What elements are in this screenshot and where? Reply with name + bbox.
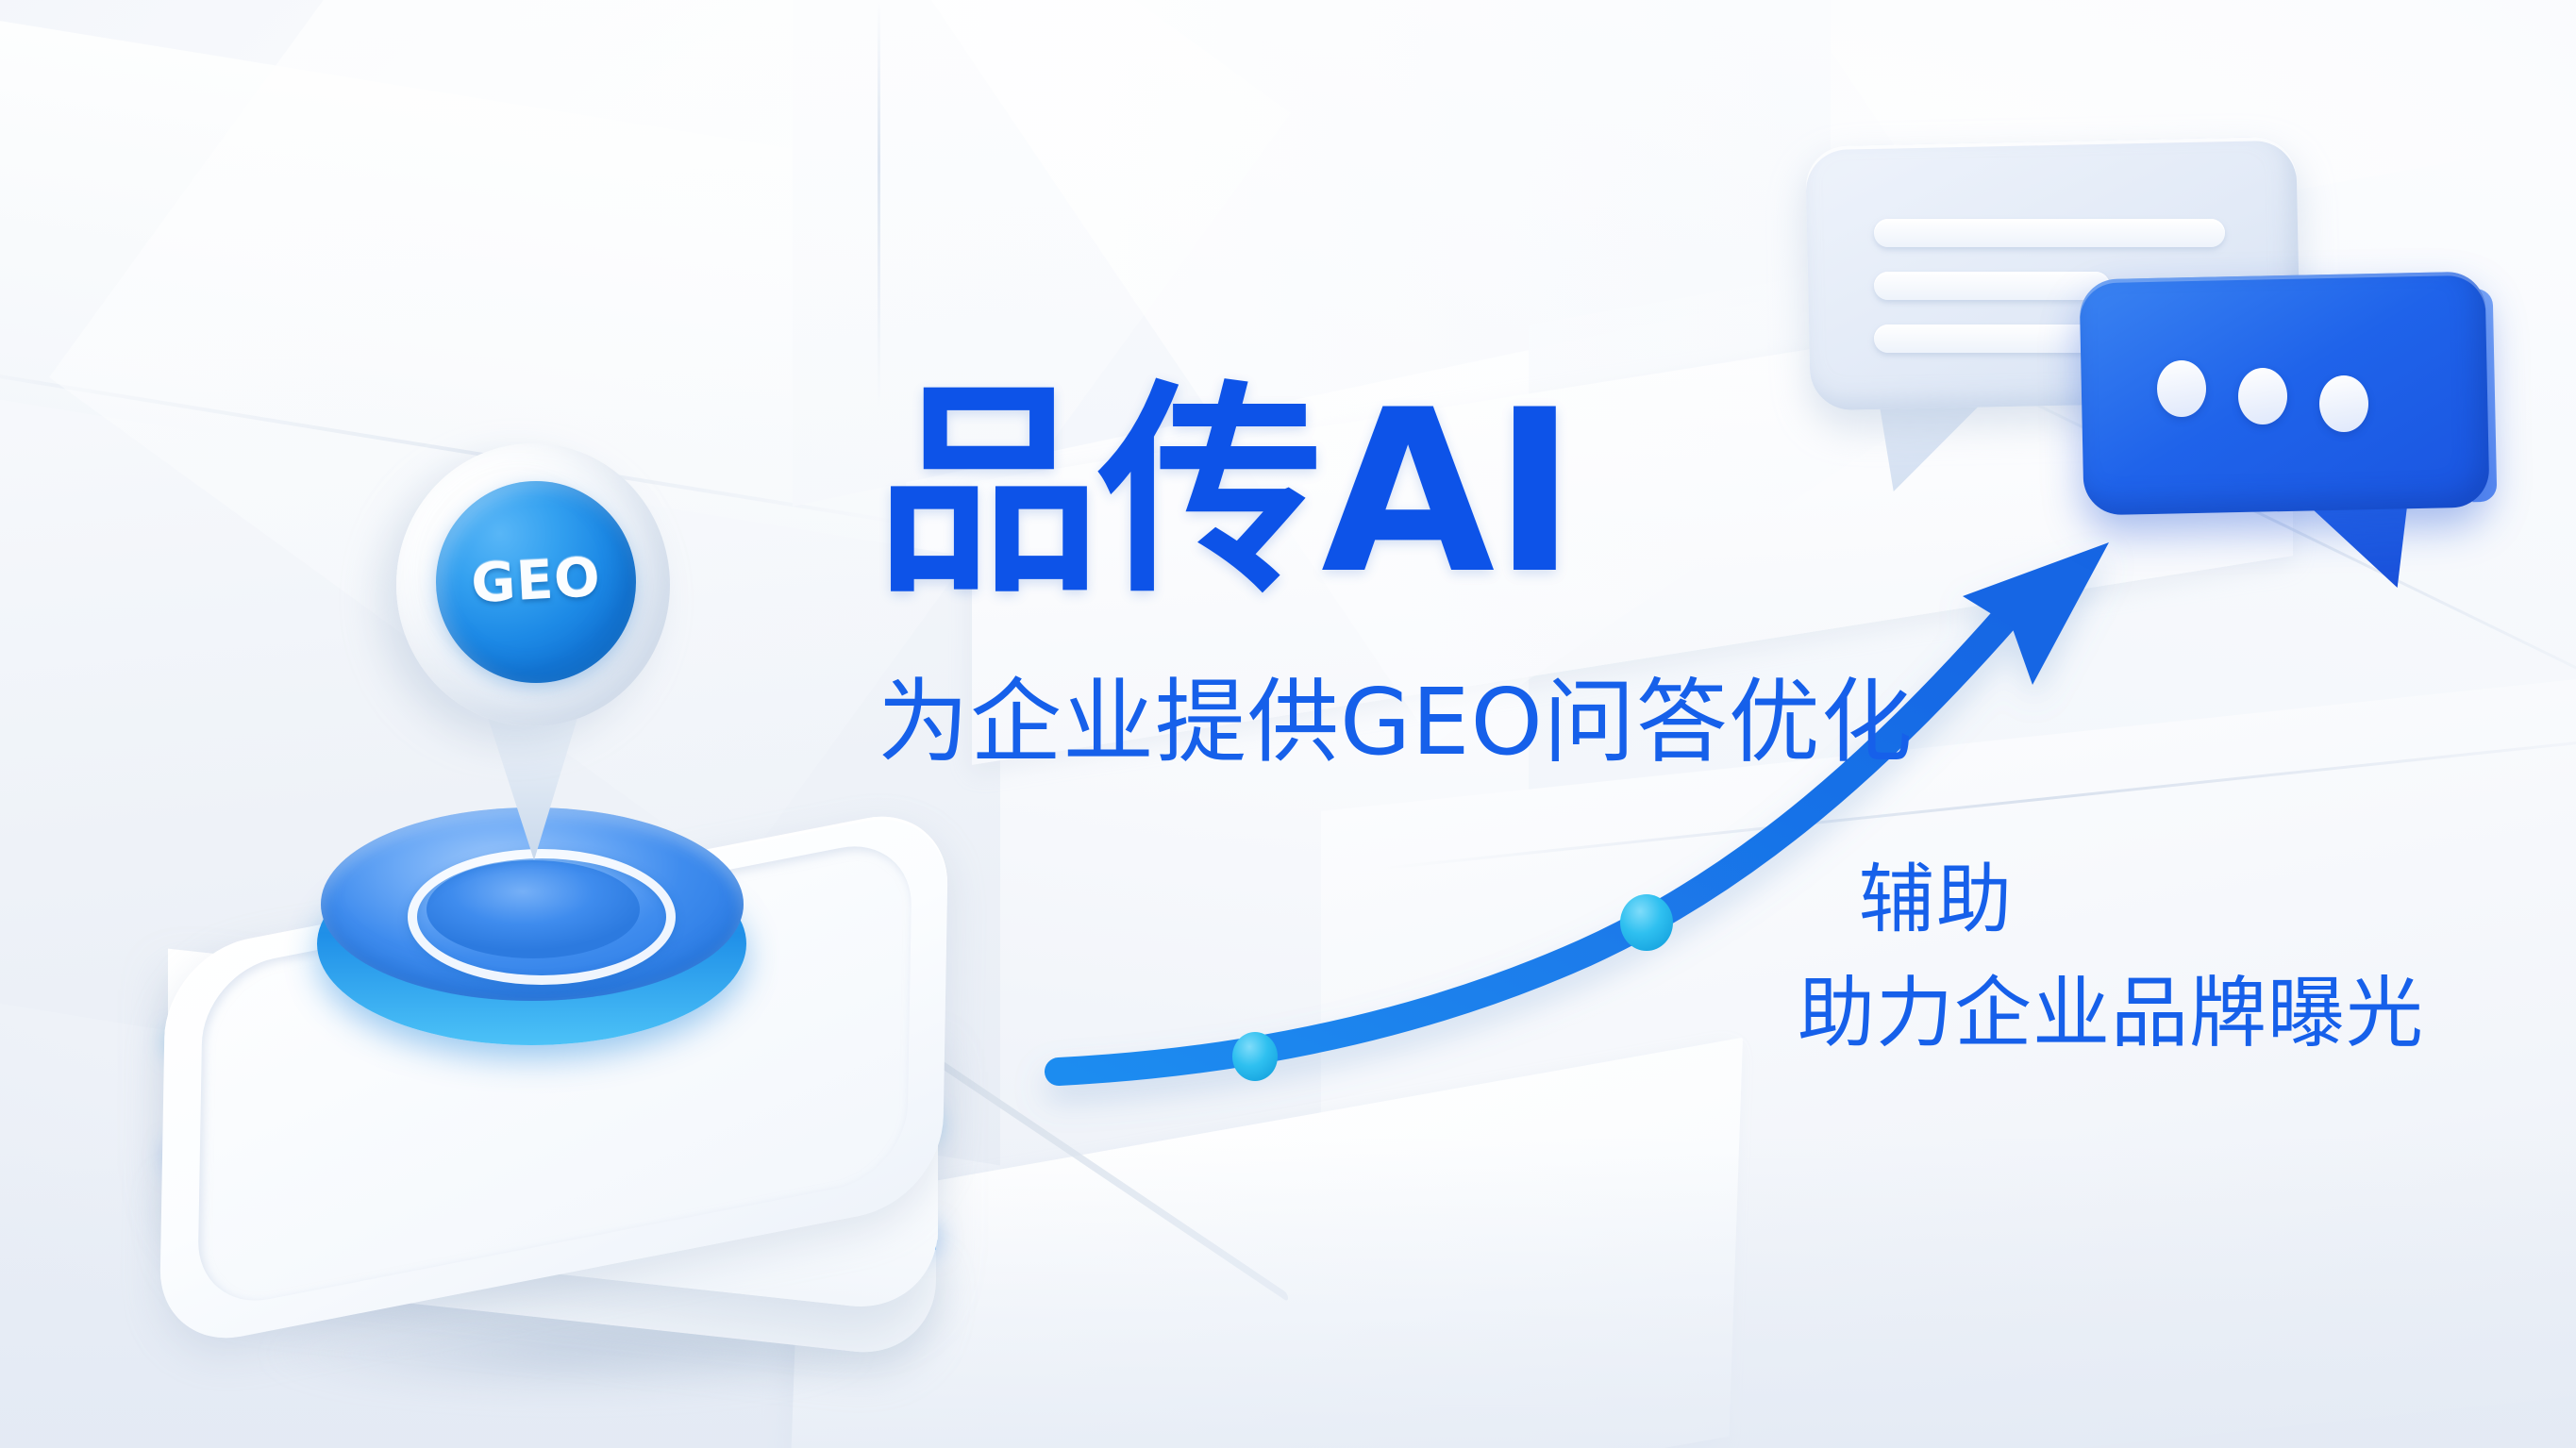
data-point-marker-1 (1232, 1032, 1278, 1081)
hero-banner: GEO (0, 0, 2576, 1448)
bubble-text-line-2 (1874, 272, 2110, 300)
data-point-marker-2 (1620, 894, 1673, 951)
typing-dot-3 (2319, 375, 2368, 432)
side-caption-line-2: 助力企业品牌曝光 (1798, 970, 2424, 1057)
page-title: 品传AI (876, 381, 1575, 606)
side-caption-line-1: 辅助 (1859, 857, 2014, 942)
bubble-text-line-3 (1874, 325, 2099, 353)
typing-dot-1 (2157, 360, 2206, 417)
bubble-text-line-1 (1874, 219, 2225, 247)
typing-dot-2 (2238, 368, 2287, 424)
page-subtitle: 为企业提供GEO问答优化 (878, 672, 1914, 774)
